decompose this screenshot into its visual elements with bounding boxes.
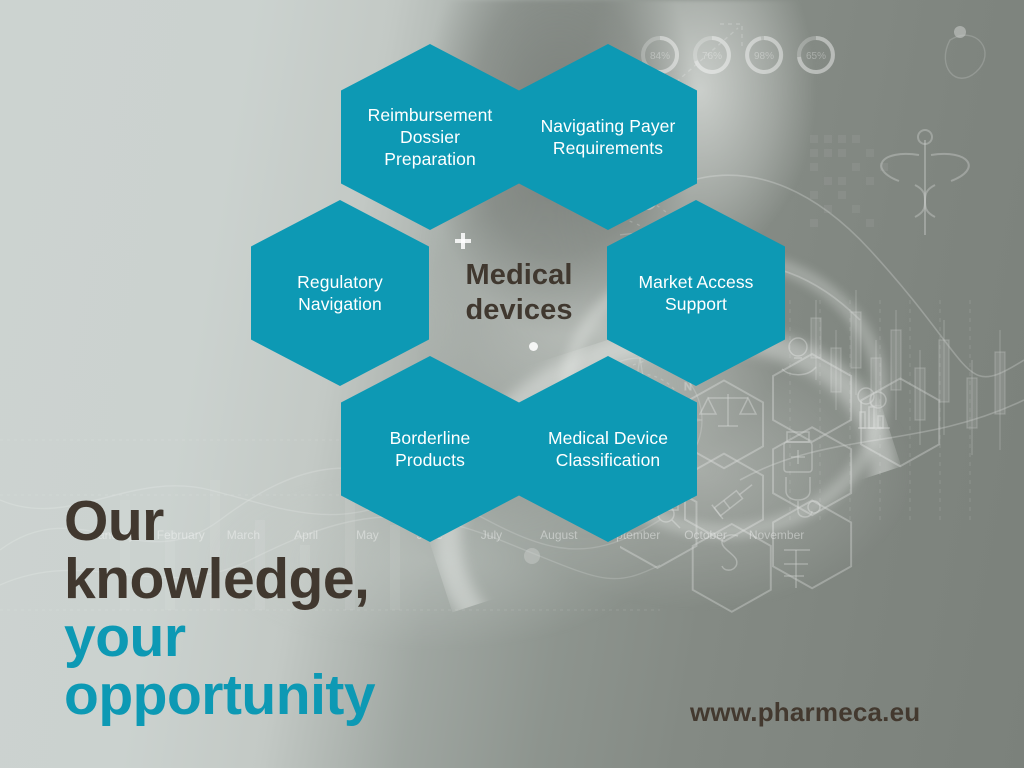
hexagon-medical-device-classification[interactable]: Medical Device Classification (519, 356, 697, 542)
hexagon-center-medical-devices: Medicaldevices (430, 200, 608, 386)
dot-icon (529, 342, 538, 351)
hexagon-label: Reimbursement Dossier Preparation (355, 104, 505, 170)
headline-line-4: opportunity (64, 666, 494, 724)
page-title: Our knowledge, your opportunity (64, 492, 494, 724)
headline-line-1: Our (64, 492, 494, 550)
hexagon-navigating-payer-requirements[interactable]: Navigating Payer Requirements (519, 44, 697, 230)
hexagon-reimbursement-dossier-preparation[interactable]: Reimbursement Dossier Preparation (341, 44, 519, 230)
hexagon-label: Borderline Products (355, 427, 505, 471)
hexagon-label: Market Access Support (621, 271, 771, 315)
hexagon-label: Navigating Payer Requirements (533, 115, 683, 159)
hexagon-label: Regulatory Navigation (265, 271, 415, 315)
headline-line-3: your (64, 608, 494, 666)
hexagon-market-access-support[interactable]: Market Access Support (607, 200, 785, 386)
center-title-line2: devices (465, 294, 572, 326)
slide-canvas: 84% 76% 98% 65% (0, 0, 1024, 768)
center-title-line1: Medical (465, 259, 572, 291)
hexagon-label: Medical Device Classification (533, 427, 683, 471)
headline-line-2: knowledge, (64, 550, 494, 608)
center-title: Medicaldevices (465, 258, 572, 328)
hexagon-regulatory-navigation[interactable]: Regulatory Navigation (251, 200, 429, 386)
plus-icon (455, 233, 471, 249)
website-url[interactable]: www.pharmeca.eu (690, 697, 920, 728)
